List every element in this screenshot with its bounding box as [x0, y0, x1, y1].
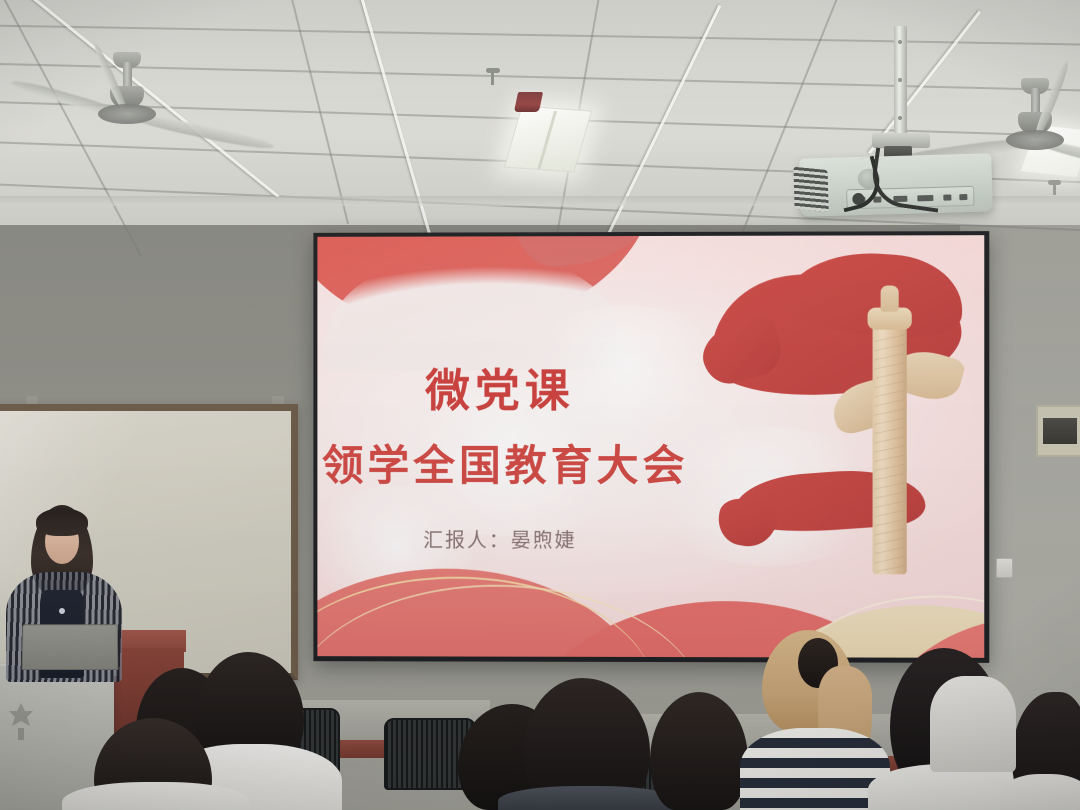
whiteboard-mount-clip — [26, 396, 38, 404]
presenter-laptop — [22, 624, 119, 670]
whiteboard-mount-clip — [272, 396, 284, 404]
wall-mounted-sign — [1036, 405, 1080, 457]
presenter-hair-front — [36, 508, 88, 536]
huabiao-finial — [881, 286, 899, 312]
projector-mount-pole — [894, 26, 907, 136]
projection-screen: 微党课 领学全国教育大会 汇报人：晏煦婕 — [313, 231, 989, 663]
light-switch[interactable] — [996, 558, 1013, 578]
presentation-slide: 微党课 领学全国教育大会 汇报人：晏煦婕 — [317, 235, 984, 658]
sprinkler-head — [486, 68, 500, 73]
podium-emblem — [6, 700, 36, 742]
projector-vent — [793, 167, 828, 212]
slide-title-primary: 微党课 — [317, 354, 984, 419]
slide-title-secondary: 领学全国教育大会 — [317, 432, 984, 493]
slide-presenter-label: 汇报人：晏煦婕 — [317, 524, 984, 554]
fire-alarm-bell — [514, 92, 543, 112]
classroom-photo-scene: 微党课 领学全国教育大会 汇报人：晏煦婕 — [0, 0, 1080, 810]
sprinkler-head-right — [1048, 180, 1061, 185]
